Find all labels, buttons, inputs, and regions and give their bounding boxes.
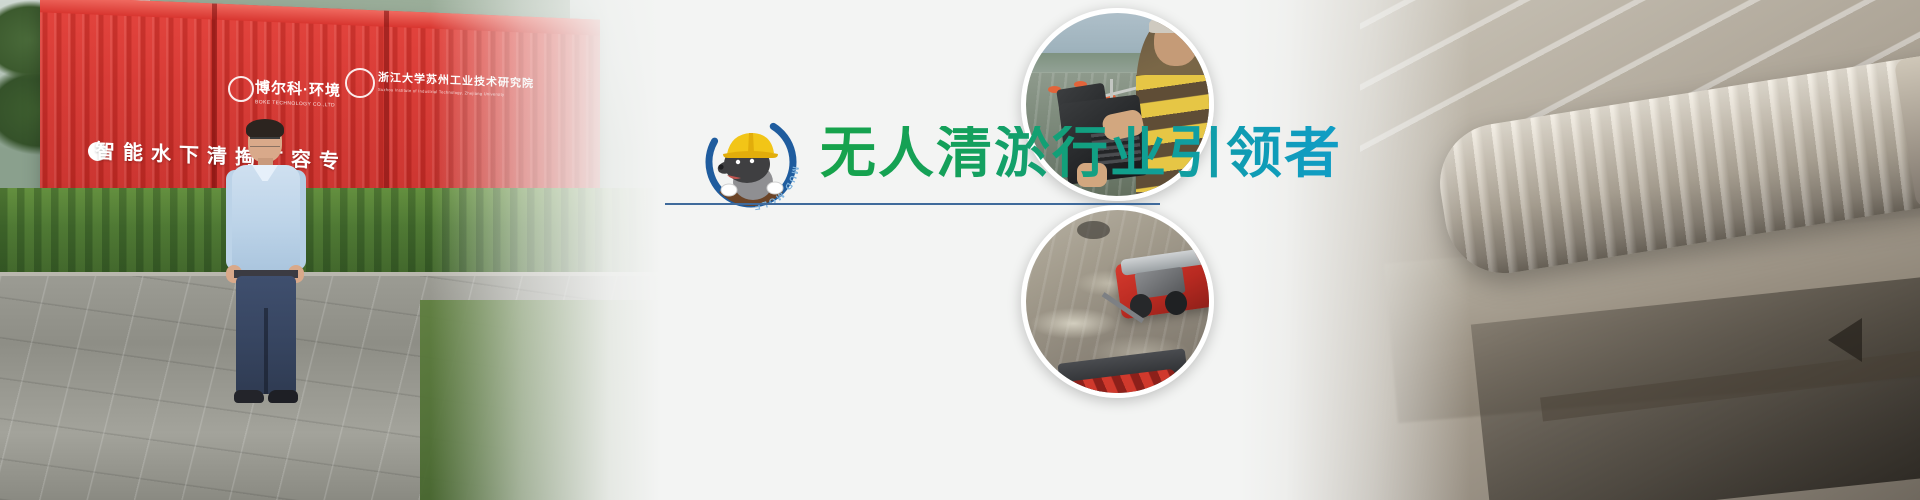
logo-mole-eye bbox=[736, 160, 740, 164]
hair bbox=[246, 119, 284, 139]
blue-shirt bbox=[232, 165, 300, 275]
logo-mole-nose bbox=[718, 164, 723, 169]
container-site-photo: 博尔科·环境 BOKE TECHNOLOGY CO.,LTD 浙江大学苏州工业技… bbox=[0, 0, 660, 500]
right-photo-fade bbox=[1240, 0, 1470, 500]
man-in-blue-shirt bbox=[218, 122, 314, 422]
left-shoe bbox=[234, 390, 264, 403]
logo-mole-paw bbox=[721, 184, 737, 196]
leg-separation bbox=[264, 308, 268, 394]
mud-mole-logo-svg: MUD MOLE bbox=[697, 108, 805, 216]
brand-primary-text: 博尔科·环境 bbox=[255, 79, 341, 100]
hero-banner: 博尔科·环境 BOKE TECHNOLOGY CO.,LTD 浙江大学苏州工业技… bbox=[0, 0, 1920, 500]
center-content: MUD MOLE 无人清淤行业引领者 bbox=[660, 0, 1260, 500]
container-brand-primary: 博尔科·环境 BOKE TECHNOLOGY CO.,LTD bbox=[255, 76, 341, 109]
mud-mole-logo: MUD MOLE bbox=[697, 108, 805, 216]
page-title: 无人清淤行业引领者 bbox=[820, 126, 1342, 182]
pipe-discharge-photo bbox=[1240, 0, 1920, 500]
left-photo-fade bbox=[430, 0, 660, 500]
title-divider bbox=[665, 203, 1160, 205]
logo-mole-eye bbox=[750, 159, 754, 163]
right-shoe bbox=[268, 390, 298, 403]
chevron-shape-icon bbox=[1828, 318, 1862, 362]
glasses-icon bbox=[250, 137, 280, 147]
brand-emblem-secondary bbox=[345, 68, 375, 98]
brand-emblem-primary bbox=[228, 76, 254, 102]
logo-hard-hat-ridge bbox=[748, 133, 754, 153]
